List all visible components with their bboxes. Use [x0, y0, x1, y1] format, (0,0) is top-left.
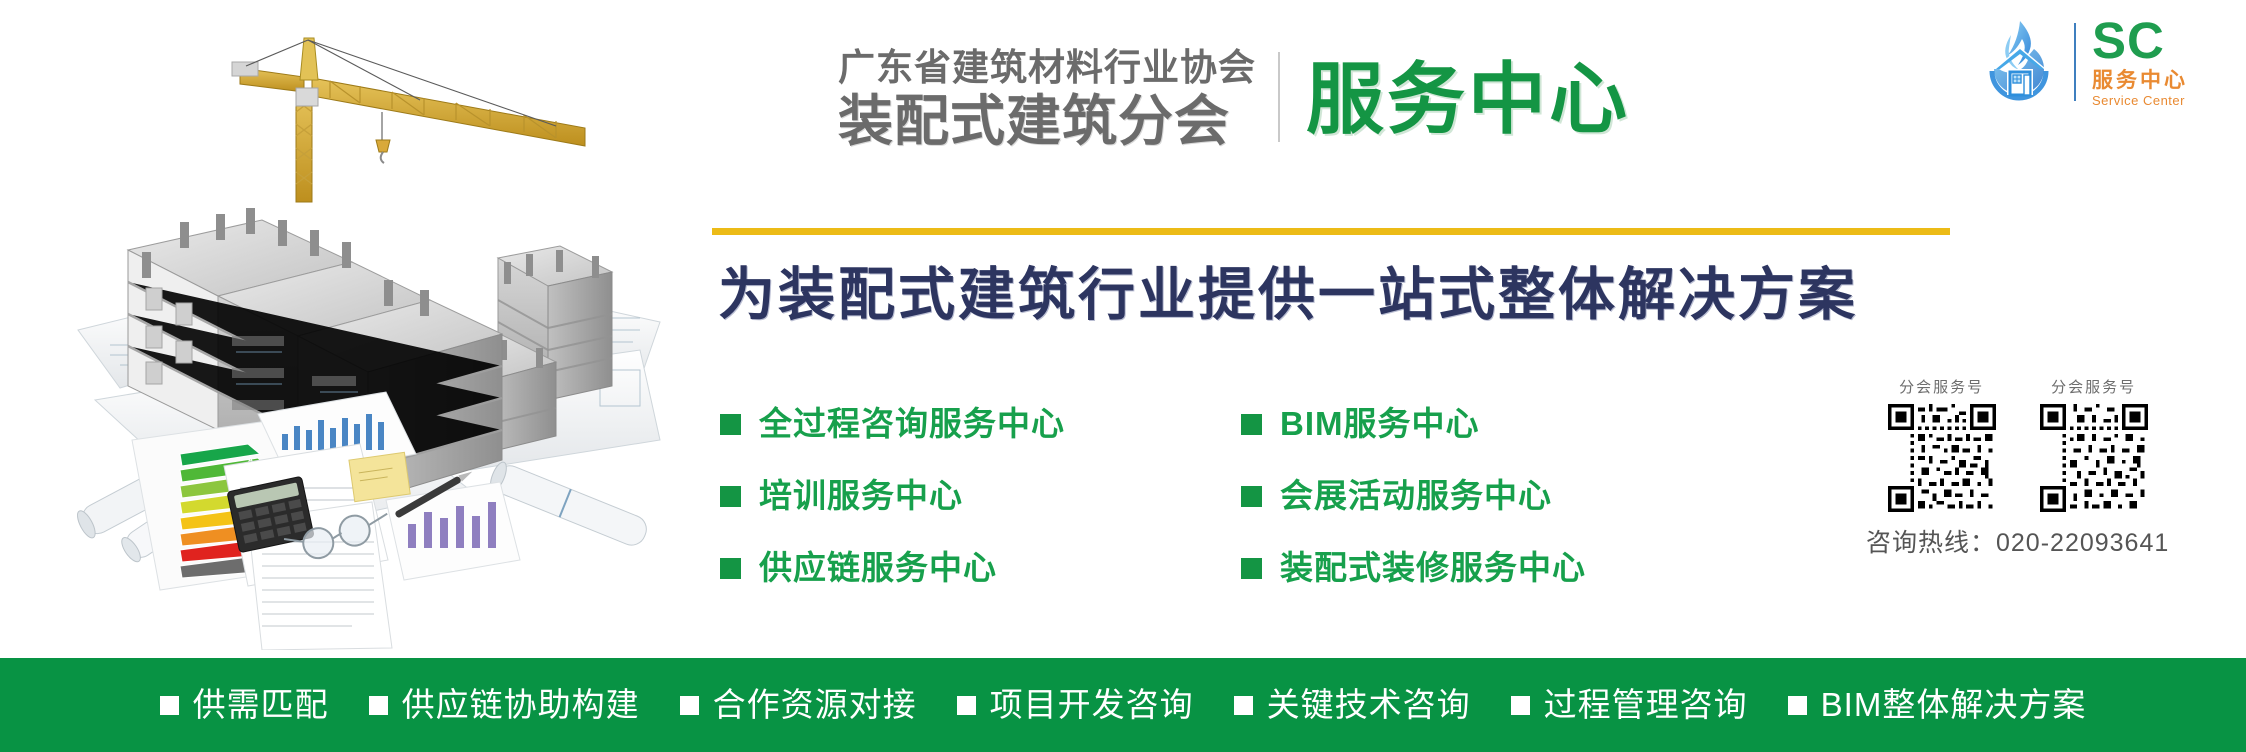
footer-item-label: 关键技术咨询: [1267, 686, 1471, 724]
square-bullet-icon: [720, 414, 741, 435]
qr-cell[interactable]: 分会服务号: [2040, 378, 2148, 512]
qr-caption: 分会服务号: [1899, 378, 1984, 398]
construction-site-photo: ABC DEF GH: [0, 0, 700, 650]
service-item-label: 培训服务中心: [759, 477, 963, 515]
association-name-line1: 广东省建筑材料行业协会: [838, 46, 1256, 90]
brand-logo[interactable]: SC 服务中心 Service Center: [1980, 16, 2188, 108]
square-bullet-icon: [957, 696, 976, 715]
square-bullet-icon: [1234, 696, 1253, 715]
square-bullet-icon: [720, 486, 741, 507]
hotline-text: 咨询热线：020-22093641: [1866, 528, 2169, 558]
qr-contact-block: 分会服务号: [1866, 378, 2169, 558]
service-item[interactable]: BIM服务中心: [1241, 405, 1586, 443]
footer-item-label: 项目开发咨询: [990, 686, 1194, 724]
service-item[interactable]: 装配式装修服务中心: [1241, 549, 1586, 587]
service-column-right: BIM服务中心 会展活动服务中心 装配式装修服务中心: [1241, 405, 1586, 587]
service-item[interactable]: 供应链服务中心: [720, 549, 1065, 587]
service-item[interactable]: 培训服务中心: [720, 477, 1065, 515]
logo-english-name: Service Center: [2092, 93, 2185, 108]
service-item[interactable]: 会展活动服务中心: [1241, 477, 1586, 515]
square-bullet-icon: [720, 558, 741, 579]
footer-item-label: 过程管理咨询: [1544, 686, 1748, 724]
logo-abbreviation: SC: [2092, 16, 2165, 66]
promotional-banner: ABC DEF GH: [0, 0, 2246, 752]
association-names: 广东省建筑材料行业协会 装配式建筑分会: [838, 46, 1278, 152]
house-flame-icon: [1980, 17, 2058, 107]
square-bullet-icon: [160, 696, 179, 715]
footer-item[interactable]: 合作资源对接: [680, 686, 917, 724]
qr-code-icon: [1888, 404, 1996, 512]
footer-item-label: BIM整体解决方案: [1821, 686, 2087, 724]
logo-chinese-name: 服务中心: [2092, 69, 2188, 93]
qr-cell[interactable]: 分会服务号: [1888, 378, 1996, 512]
square-bullet-icon: [1511, 696, 1530, 715]
square-bullet-icon: [1241, 414, 1262, 435]
square-bullet-icon: [1241, 558, 1262, 579]
sticky-note: [349, 452, 410, 501]
association-branch-name: 装配式建筑分会: [838, 90, 1256, 152]
header-association-block: 广东省建筑材料行业协会 装配式建筑分会 服务中心: [838, 46, 1630, 152]
service-centers-list: 全过程咨询服务中心 培训服务中心 供应链服务中心 BIM服务中心 会展活动服务中…: [720, 405, 1586, 587]
gold-divider-rule: [712, 228, 1950, 235]
service-column-left: 全过程咨询服务中心 培训服务中心 供应链服务中心: [720, 405, 1065, 587]
service-item-label: 会展活动服务中心: [1280, 477, 1552, 515]
square-bullet-icon: [369, 696, 388, 715]
qr-row: 分会服务号: [1888, 378, 2148, 512]
footer-item-label: 供应链协助构建: [402, 686, 640, 724]
service-item-label: 供应链服务中心: [759, 549, 997, 587]
service-item[interactable]: 全过程咨询服务中心: [720, 405, 1065, 443]
footer-item-label: 供需匹配: [193, 686, 329, 724]
footer-item[interactable]: 项目开发咨询: [957, 686, 1194, 724]
square-bullet-icon: [1788, 696, 1807, 715]
qr-code-icon: [2040, 404, 2148, 512]
footer-item[interactable]: 过程管理咨询: [1511, 686, 1748, 724]
logo-vertical-divider: [2074, 23, 2076, 101]
page-headline: 为装配式建筑行业提供一站式整体解决方案: [718, 262, 1858, 328]
service-item-label: BIM服务中心: [1280, 405, 1480, 443]
service-item-label: 装配式装修服务中心: [1280, 549, 1586, 587]
square-bullet-icon: [680, 696, 699, 715]
footer-item[interactable]: 关键技术咨询: [1234, 686, 1471, 724]
footer-item[interactable]: 供应链协助构建: [369, 686, 640, 724]
footer-item[interactable]: BIM整体解决方案: [1788, 686, 2087, 724]
footer-item-label: 合作资源对接: [713, 686, 917, 724]
footer-item[interactable]: 供需匹配: [160, 686, 329, 724]
logo-text-block: SC 服务中心 Service Center: [2092, 16, 2188, 108]
footer-services-bar: 供需匹配 供应链协助构建 合作资源对接 项目开发咨询 关键技术咨询 过程管理咨询…: [0, 658, 2246, 752]
square-bullet-icon: [1241, 486, 1262, 507]
service-item-label: 全过程咨询服务中心: [759, 405, 1065, 443]
qr-caption: 分会服务号: [2051, 378, 2136, 398]
service-center-title: 服务中心: [1280, 46, 1630, 152]
